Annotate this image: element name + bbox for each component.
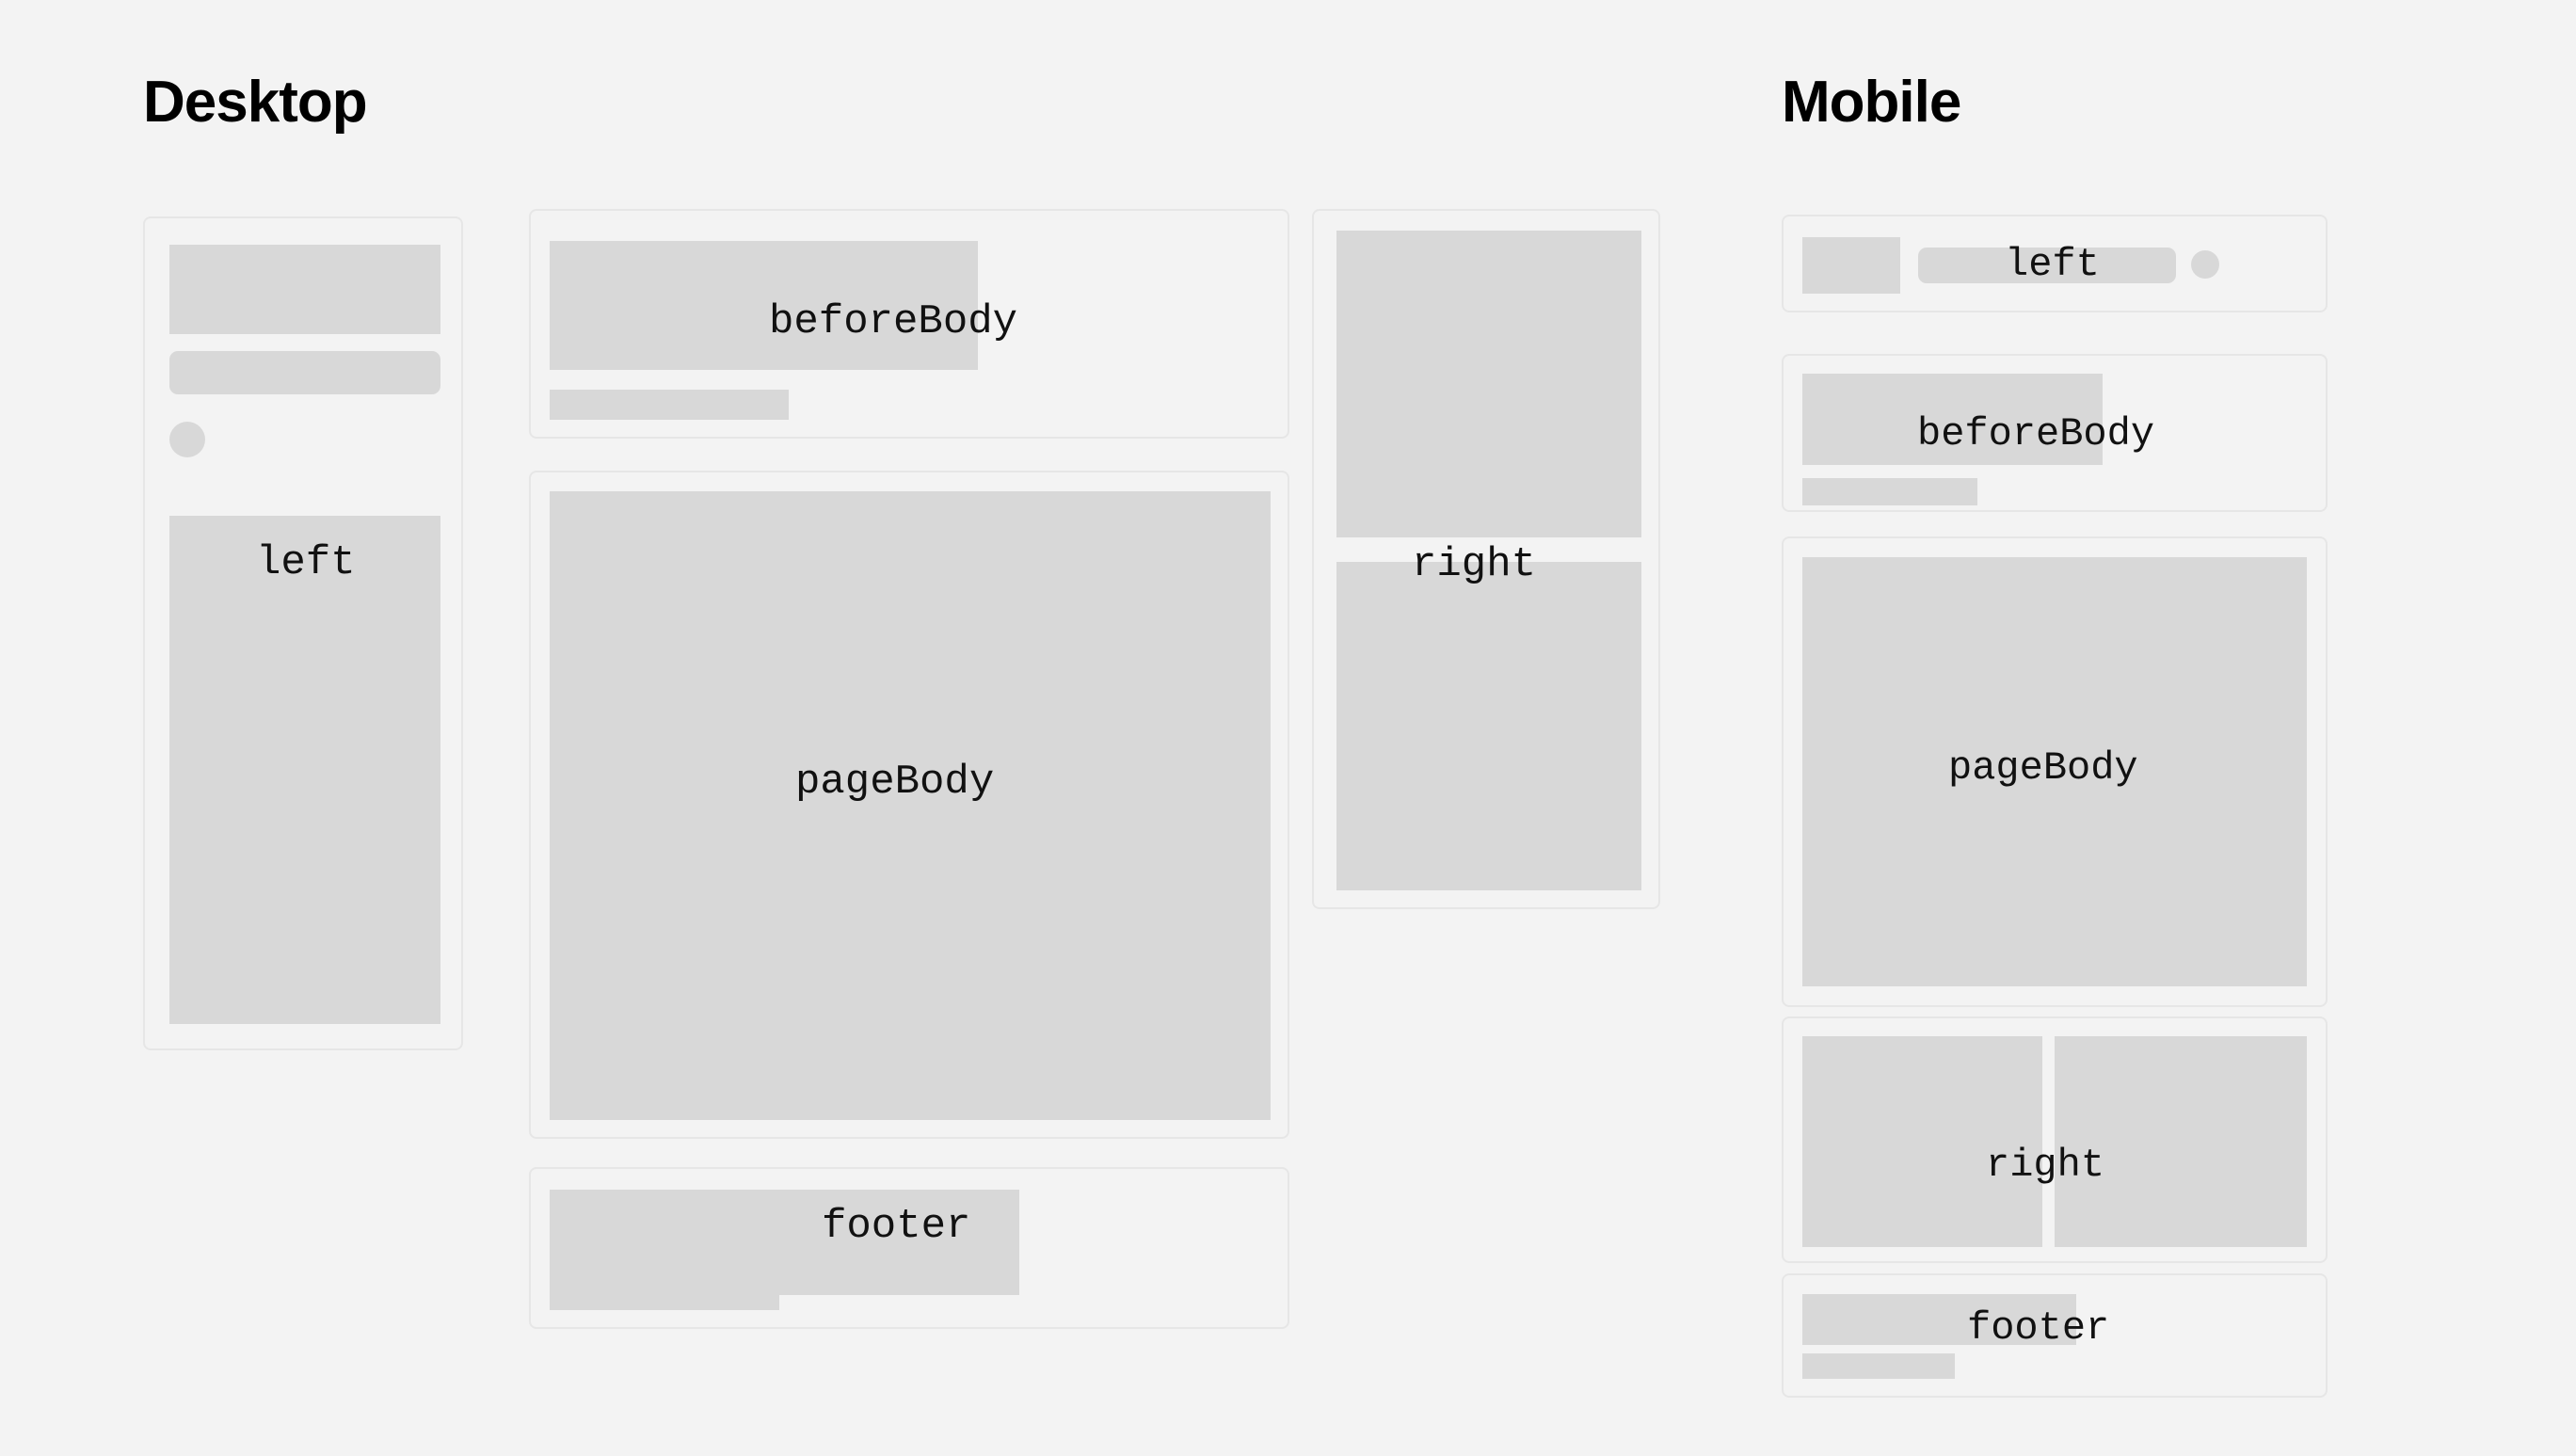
mobile-left-bar-rounded [1918,248,2176,283]
mobile-right-panel[interactable] [1782,1016,2328,1263]
mobile-footer-block-wide [1802,1294,2076,1345]
desktop-left-bar-rounded [169,351,440,394]
desktop-pagebody-panel[interactable] [529,471,1289,1139]
mobile-left-avatar-circle [2191,250,2219,279]
desktop-left-block-main [169,516,440,1024]
desktop-beforebody-panel[interactable] [529,209,1289,439]
desktop-footer-panel[interactable] [529,1167,1289,1329]
mobile-right-block-col-b [2055,1036,2307,1247]
mobile-right-block-col-a [1802,1036,2042,1247]
mobile-beforebody-panel[interactable] [1782,354,2328,512]
mobile-beforebody-bar-small [1802,478,1977,505]
desktop-right-block-top [1336,231,1641,537]
mobile-section-title: Mobile [1782,73,1960,132]
desktop-beforebody-block-wide [550,241,978,370]
desktop-left-block-tall [169,245,440,334]
mobile-left-panel[interactable] [1782,215,2328,312]
desktop-beforebody-bar-small [550,390,789,420]
desktop-section-title: Desktop [143,73,367,132]
mobile-footer-bar-small [1802,1353,1955,1379]
desktop-left-avatar-circle [169,422,205,457]
desktop-right-block-bottom [1336,562,1641,890]
desktop-pagebody-block-main [550,491,1271,1120]
desktop-footer-bar-small [550,1280,779,1310]
layout-preview-canvas: Desktop left beforeBody pageBody right f… [0,0,2576,1456]
mobile-pagebody-block-main [1802,557,2307,986]
mobile-pagebody-panel[interactable] [1782,536,2328,1007]
desktop-right-panel[interactable] [1312,209,1660,909]
mobile-footer-panel[interactable] [1782,1273,2328,1398]
mobile-beforebody-block-wide [1802,374,2103,465]
mobile-left-block-square [1802,237,1900,294]
desktop-left-panel[interactable] [143,216,463,1050]
